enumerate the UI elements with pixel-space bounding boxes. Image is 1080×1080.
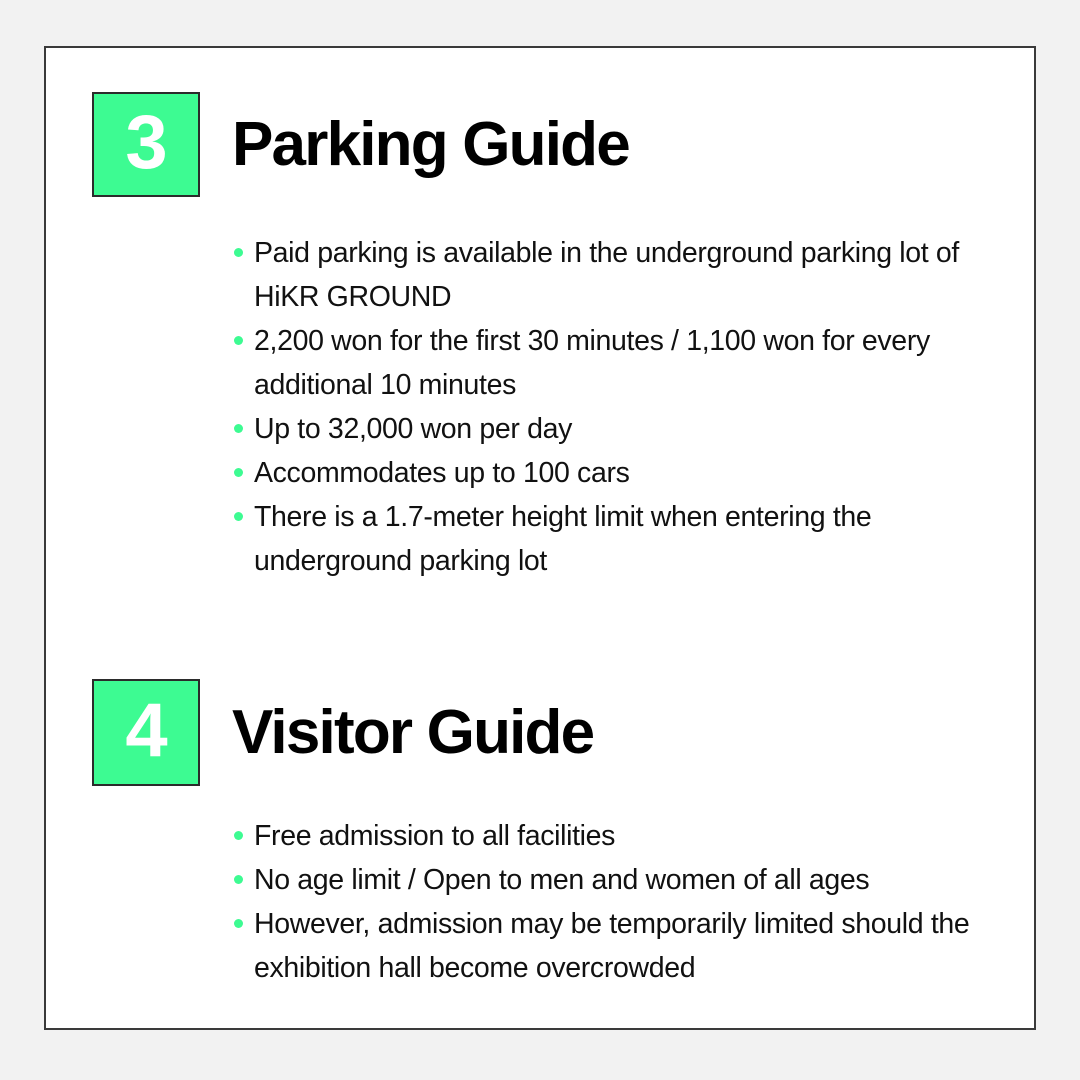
list-item: Paid parking is available in the undergr…	[234, 231, 1016, 319]
step-badge-number: 3	[125, 105, 166, 181]
list-item: No age limit / Open to men and women of …	[234, 858, 1016, 902]
sections-container: 3 Parking Guide Paid parking is availabl…	[46, 48, 1034, 1028]
list-item-text: Up to 32,000 won per day	[254, 413, 572, 445]
list-item: 2,200 won for the first 30 minutes / 1,1…	[234, 319, 1016, 407]
list-item-text: Free admission to all facilities	[254, 820, 615, 852]
step-badge-number: 4	[125, 693, 166, 769]
bullet-list-visitor-guide: Free admission to all facilities No age …	[46, 786, 1034, 990]
info-card: 3 Parking Guide Paid parking is availabl…	[44, 46, 1036, 1030]
step-badge-3: 3	[92, 92, 200, 197]
list-item-text: No age limit / Open to men and women of …	[254, 864, 869, 896]
step-badge-4: 4	[92, 679, 200, 786]
list-item: However, admission may be temporarily li…	[234, 902, 1016, 990]
bullet-dot-icon	[234, 875, 243, 884]
section-header-visitor-guide: 4 Visitor Guide	[46, 679, 1034, 786]
list-item-text: Paid parking is available in the undergr…	[254, 237, 959, 313]
list-item-text: 2,200 won for the first 30 minutes / 1,1…	[254, 325, 930, 401]
list-item-text: There is a 1.7-meter height limit when e…	[254, 501, 871, 577]
bullet-dot-icon	[234, 468, 243, 477]
bullet-dot-icon	[234, 831, 243, 840]
bullet-dot-icon	[234, 336, 243, 345]
section-parking-guide: 3 Parking Guide Paid parking is availabl…	[46, 92, 1034, 583]
list-item-text: Accommodates up to 100 cars	[254, 457, 630, 489]
section-visitor-guide: 4 Visitor Guide Free admission to all fa…	[46, 679, 1034, 990]
bullet-list-parking-guide: Paid parking is available in the undergr…	[46, 197, 1034, 583]
list-item: Up to 32,000 won per day	[234, 407, 1016, 451]
list-item: Accommodates up to 100 cars	[234, 451, 1016, 495]
bullet-dot-icon	[234, 919, 243, 928]
section-title-parking-guide: Parking Guide	[232, 114, 629, 176]
list-item-text: However, admission may be temporarily li…	[254, 908, 969, 984]
bullet-dot-icon	[234, 424, 243, 433]
list-item: There is a 1.7-meter height limit when e…	[234, 495, 1016, 583]
section-title-visitor-guide: Visitor Guide	[232, 702, 593, 764]
list-item: Free admission to all facilities	[234, 814, 1016, 858]
bullet-dot-icon	[234, 512, 243, 521]
page-root: 3 Parking Guide Paid parking is availabl…	[0, 0, 1080, 1080]
bullet-dot-icon	[234, 248, 243, 257]
section-header-parking-guide: 3 Parking Guide	[46, 92, 1034, 197]
